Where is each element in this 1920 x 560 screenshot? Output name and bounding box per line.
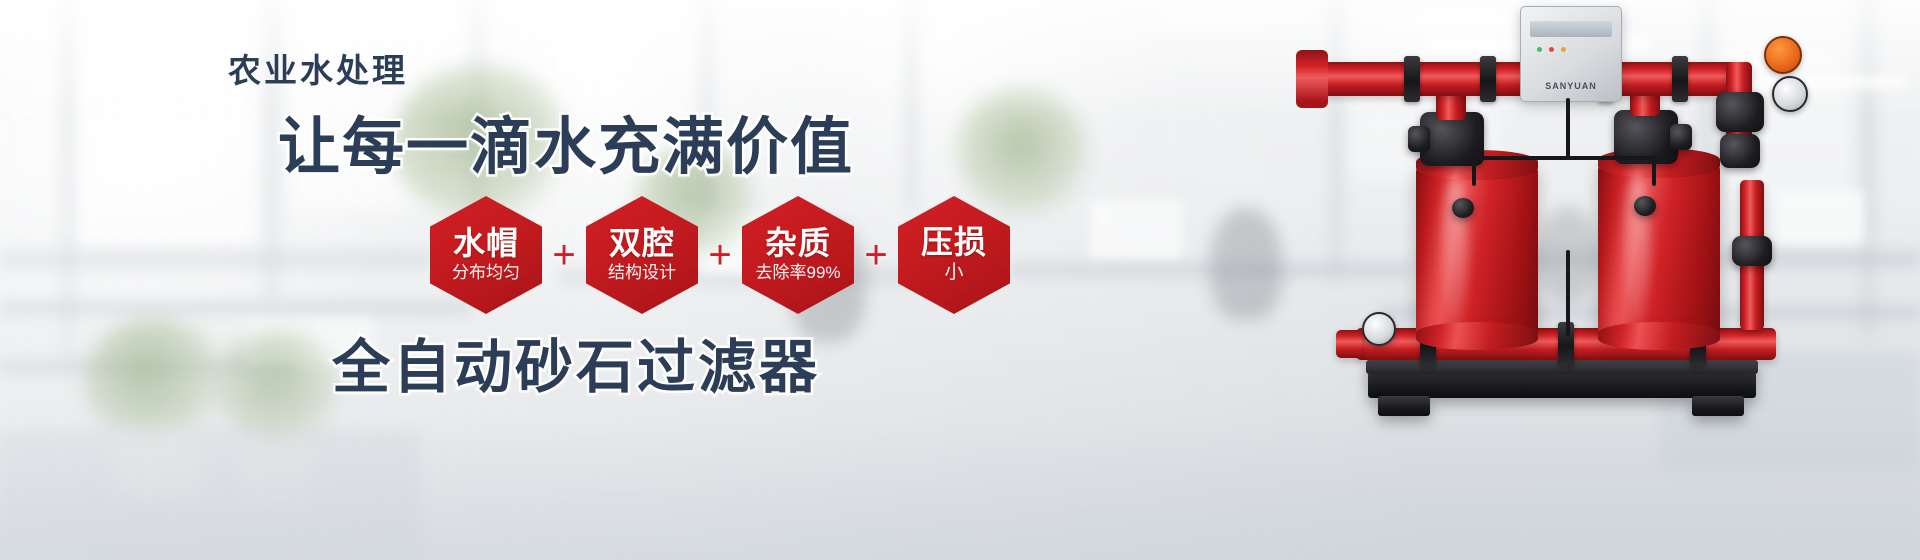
feature-badge-1-title: 水帽 xyxy=(453,227,519,261)
headline-text: 让每一滴水充满价值 xyxy=(278,96,854,186)
feature-badge-4-title: 压损 xyxy=(921,226,987,260)
plus-separator-2: + xyxy=(698,235,742,275)
feature-badge-1: 水帽 分布均匀 xyxy=(430,196,542,314)
control-wire-vertical xyxy=(1566,98,1570,160)
butterfly-valve-right-actuator xyxy=(1670,124,1692,150)
feature-badge-2: 双腔 结构设计 xyxy=(586,196,698,314)
filter-tank-right xyxy=(1598,160,1720,340)
feature-badge-row: 水帽 分布均匀 + 双腔 结构设计 + 杂质 去除率99% + 压损 小 xyxy=(430,196,1010,314)
control-wire-drop-left xyxy=(1472,156,1476,186)
controller-box: SANYUAN xyxy=(1520,6,1622,102)
feature-badge-4-subtitle: 小 xyxy=(944,263,963,284)
right-end-valve-lower xyxy=(1720,134,1760,168)
pressure-relief-valve xyxy=(1764,36,1802,74)
feature-badge-2-title: 双腔 xyxy=(609,227,675,261)
tank-bottom-cap-right xyxy=(1598,322,1720,350)
eyebrow-text: 农业水处理 xyxy=(228,44,408,92)
tank-side-port-left xyxy=(1452,198,1474,218)
plus-separator-3: + xyxy=(854,235,898,275)
control-wire-lower xyxy=(1566,250,1570,336)
controller-brand-label: SANYUAN xyxy=(1521,81,1621,91)
feature-badge-4: 压损 小 xyxy=(898,196,1010,314)
controller-led-green xyxy=(1537,47,1542,52)
subheadline-product-name: 全自动砂石过滤器 xyxy=(332,320,820,404)
tank-bottom-cap-left xyxy=(1416,322,1538,350)
banner-copy-block: 农业水处理 让每一滴水充满价值 水帽 分布均匀 + 双腔 结构设计 + 杂质 去… xyxy=(0,0,1120,560)
right-end-valve xyxy=(1716,92,1764,132)
controller-display xyxy=(1530,21,1612,37)
pipe-flange xyxy=(1480,56,1496,102)
controller-led-red xyxy=(1549,47,1554,52)
bottom-outlet-stub xyxy=(1336,330,1362,358)
pressure-gauge-top-right xyxy=(1772,76,1808,112)
side-standpipe-valve xyxy=(1732,236,1772,266)
control-wire-right xyxy=(1568,156,1656,160)
product-photo-sand-filter: SANYUAN xyxy=(1120,0,1920,560)
feature-badge-1-subtitle: 分布均匀 xyxy=(452,264,520,283)
promo-banner: SANYUAN 农业水处理 让每一滴水充满价值 水帽 分布均匀 + 双腔 结构设… xyxy=(0,0,1920,560)
equipment-skid-foot xyxy=(1378,396,1430,416)
feature-badge-3: 杂质 去除率99% xyxy=(742,196,854,314)
control-wire-drop-right xyxy=(1652,156,1656,186)
pipe-flange xyxy=(1672,56,1688,102)
tank-side-port-right xyxy=(1634,196,1656,216)
plus-separator-1: + xyxy=(542,235,586,275)
control-wire-left xyxy=(1472,156,1568,160)
filter-tank-left xyxy=(1416,162,1538,340)
feature-badge-3-subtitle: 去除率99% xyxy=(755,264,840,283)
feature-badge-3-title: 杂质 xyxy=(765,227,831,261)
controller-led-amber xyxy=(1561,47,1566,52)
inlet-flare-left xyxy=(1296,50,1328,108)
pipe-flange xyxy=(1404,56,1420,102)
equipment-skid-foot xyxy=(1692,396,1744,416)
feature-badge-2-subtitle: 结构设计 xyxy=(608,264,676,283)
equipment-skid-base xyxy=(1368,372,1756,398)
butterfly-valve-left-actuator xyxy=(1408,126,1430,152)
pressure-gauge-bottom-left xyxy=(1362,312,1396,346)
